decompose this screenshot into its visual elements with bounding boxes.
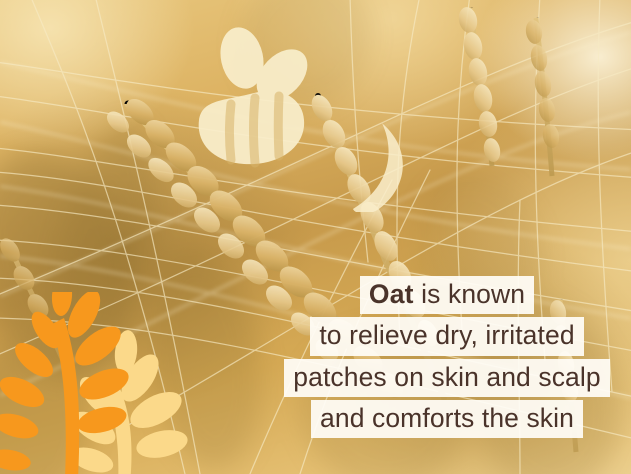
headline-line-1: Oat is known bbox=[360, 276, 534, 314]
headline-line-4: and comforts the skin bbox=[311, 400, 583, 438]
oat-benefit-banner: Oat is known to relieve dry, irritated p… bbox=[0, 0, 631, 474]
headline-block: Oat is known to relieve dry, irritated p… bbox=[268, 276, 626, 438]
bee-icon bbox=[198, 22, 413, 212]
headline-line-2: to relieve dry, irritated bbox=[310, 317, 583, 355]
bee-flight-path-icon bbox=[324, 121, 413, 212]
headline-line-1-text: is known bbox=[414, 279, 525, 309]
headline-lead-word: Oat bbox=[369, 279, 414, 309]
wheat-sprig-orange bbox=[0, 292, 133, 474]
headline-line-3: patches on skin and scalp bbox=[284, 359, 609, 397]
wheat-sprig-icon bbox=[0, 292, 190, 474]
